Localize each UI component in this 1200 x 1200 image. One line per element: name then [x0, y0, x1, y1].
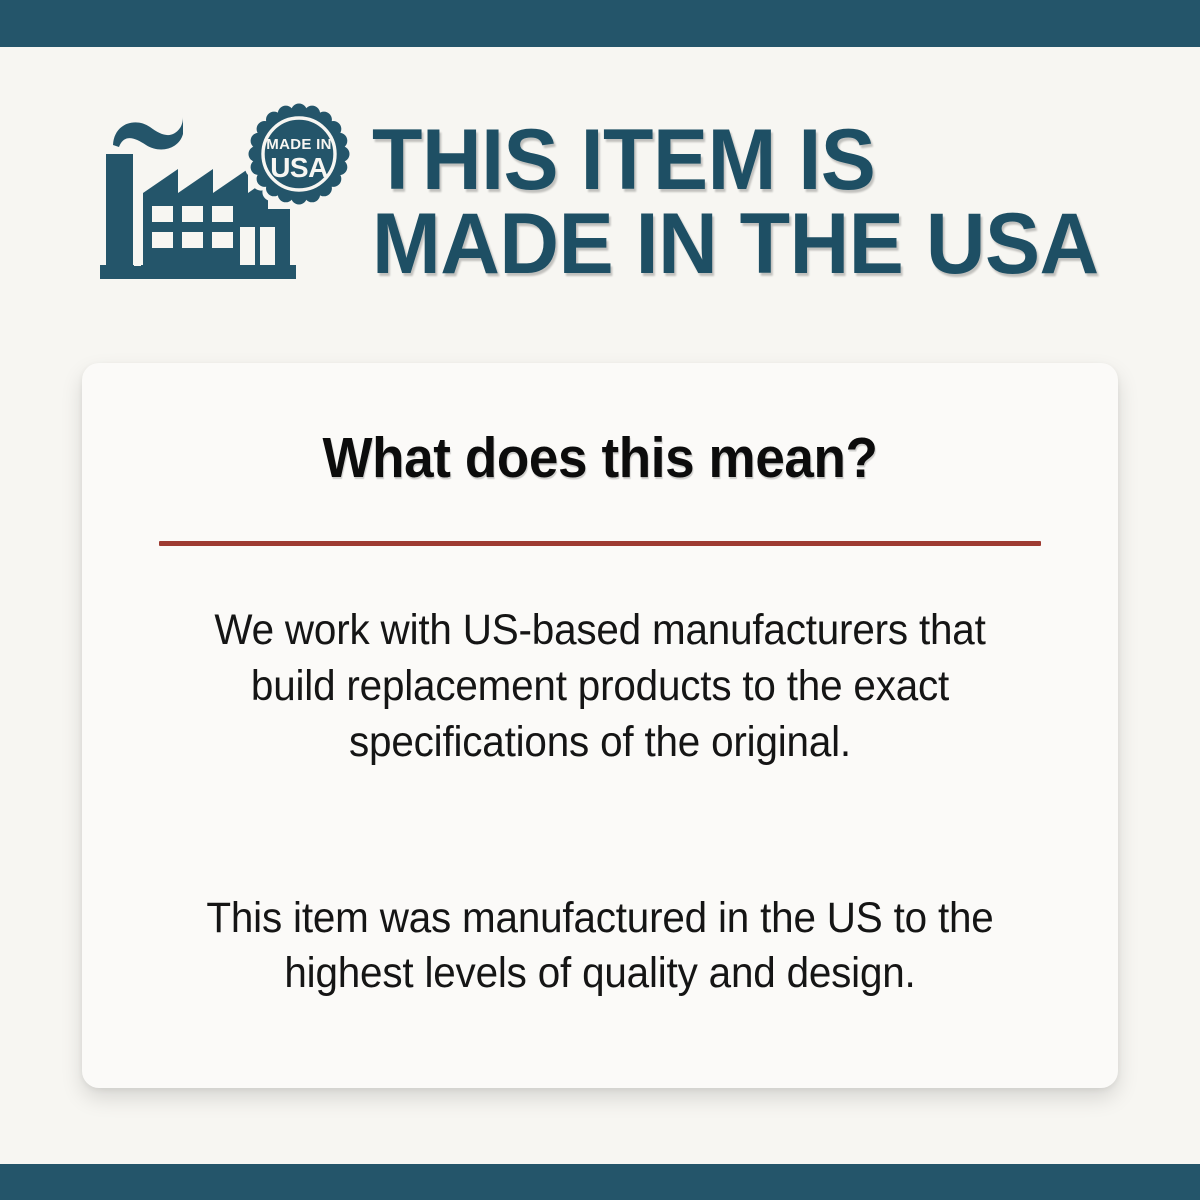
- header-title-line-1: THIS ITEM IS: [372, 118, 1099, 202]
- card-paragraph-1: We work with US-based manufacturers that…: [185, 603, 1016, 771]
- header-banner: MADE IN USA THIS ITEM IS MADE IN THE USA: [0, 47, 1200, 363]
- header-title: THIS ITEM IS MADE IN THE USA: [372, 118, 1129, 287]
- explanation-card: What does this mean? We work with US-bas…: [82, 363, 1118, 1088]
- made-in-usa-logo: MADE IN USA: [100, 101, 350, 301]
- card-divider: [159, 541, 1041, 546]
- seal-usa-label: USA: [270, 152, 328, 183]
- smoke-icon: [113, 117, 183, 149]
- top-accent-bar: [0, 0, 1200, 47]
- header-title-line-2: MADE IN THE USA: [372, 202, 1099, 286]
- card-heading: What does this mean?: [189, 429, 1011, 489]
- card-paragraph-2: This item was manufactured in the US to …: [185, 891, 1016, 1003]
- seal-made-in-label: MADE IN: [266, 136, 331, 153]
- bottom-accent-bar: [0, 1164, 1200, 1200]
- page-root: MADE IN USA THIS ITEM IS MADE IN THE USA…: [0, 0, 1200, 1200]
